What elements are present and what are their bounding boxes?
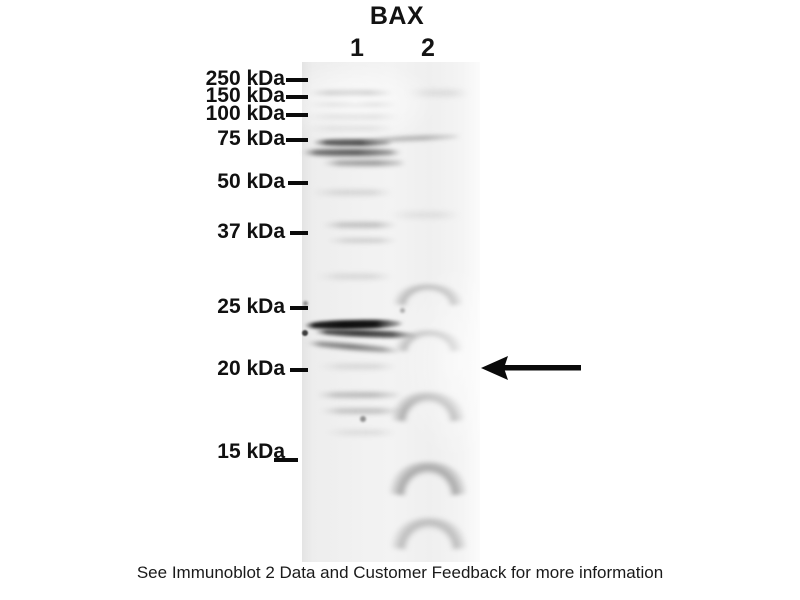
marker-label-50kda: 50 kDa <box>120 171 285 192</box>
marker-label-100kda: 100 kDa <box>120 103 285 124</box>
lane1-band-21kda <box>306 340 402 354</box>
lane-label-1: 1 <box>337 34 377 62</box>
page-title: BAX <box>352 2 442 30</box>
marker-label-20kda: 20 kDa <box>120 358 285 379</box>
lane-label-2: 2 <box>408 34 448 62</box>
lane2-band-44kda <box>388 212 462 218</box>
lane1-band-110kda <box>304 114 400 119</box>
figure-caption: See Immunoblot 2 Data and Customer Feedb… <box>0 562 800 584</box>
lane1-band-14kda <box>324 430 398 435</box>
lane2-band-150kda <box>406 90 470 96</box>
marker-tick-20kda <box>290 368 308 372</box>
marker-tick-100kda <box>286 113 308 117</box>
immunoblot-figure: BAX 1 2 250 kDa 150 kDa 100 kDa 75 kDa 5… <box>0 0 800 600</box>
marker-tick-75kda <box>286 138 308 142</box>
lane1-band-17kda <box>316 392 402 398</box>
lane2-band-17kda-arc <box>390 392 466 422</box>
lane1-band-28kda <box>316 274 394 279</box>
lane1-speck-left <box>302 330 308 336</box>
marker-label-15kda: 15 kDa <box>120 441 285 462</box>
lane1-band-48kda <box>310 190 394 195</box>
lane1-band-19kda <box>318 364 398 369</box>
lane2-band-12kda-arc <box>390 518 468 550</box>
marker-label-75kda: 75 kDa <box>120 128 285 149</box>
marker-tick-37kda <box>290 231 308 235</box>
lane1-band-130kda <box>306 102 398 107</box>
marker-tick-50kda <box>288 181 308 185</box>
marker-tick-150kda <box>286 95 308 99</box>
marker-label-25kda: 25 kDa <box>120 296 285 317</box>
band-of-interest-arrow <box>481 352 581 384</box>
blot-membrane <box>302 62 480 562</box>
lane1-band-72kda <box>302 149 402 156</box>
lane1-band-bax-main <box>304 319 404 330</box>
lane2-band-80kda <box>358 134 462 144</box>
marker-tick-15kda <box>274 458 298 462</box>
lane1-band-40kda <box>322 222 398 228</box>
lane2-band-26kda-arc <box>392 284 464 306</box>
lane1-band-66kda <box>322 160 406 166</box>
lane2-band-14kda-arc <box>388 462 468 496</box>
lane1-band-33kda <box>326 238 398 243</box>
lane1-speck-low <box>360 416 366 422</box>
lane1-band-95kda <box>304 126 396 130</box>
marker-tick-250kda <box>286 78 308 82</box>
lane2-speck <box>400 308 405 313</box>
marker-label-37kda: 37 kDa <box>120 221 285 242</box>
marker-tick-25kda <box>290 306 308 310</box>
lane1-band-150kda <box>308 90 394 96</box>
